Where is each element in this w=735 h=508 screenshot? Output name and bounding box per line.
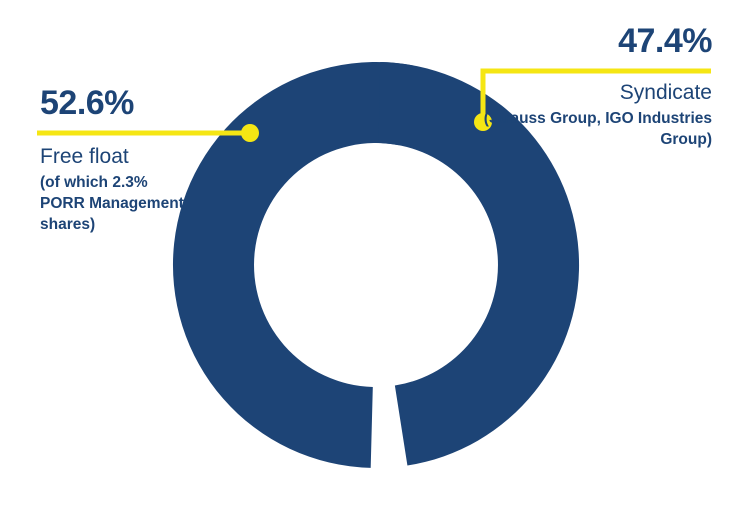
syndicate-detail: (Strauss Group, IGO Industries Group) [470,106,713,150]
left-leader-spacer [37,122,252,136]
callout-free-float: 52.6% Free float (of which 2.3% PORR Man… [37,84,252,235]
syndicate-title: Syndicate [470,72,713,106]
right-leader-spacer [470,60,713,72]
free-float-percent-label: 52.6% [37,84,252,122]
free-float-title: Free float [37,136,252,170]
callout-syndicate: 47.4% Syndicate (Strauss Group, IGO Indu… [470,22,713,150]
syndicate-percent-label: 47.4% [470,22,713,60]
free-float-detail: (of which 2.3% PORR Management shares) [37,170,190,235]
shareholder-structure-donut-chart: 52.6% Free float (of which 2.3% PORR Man… [0,0,735,508]
